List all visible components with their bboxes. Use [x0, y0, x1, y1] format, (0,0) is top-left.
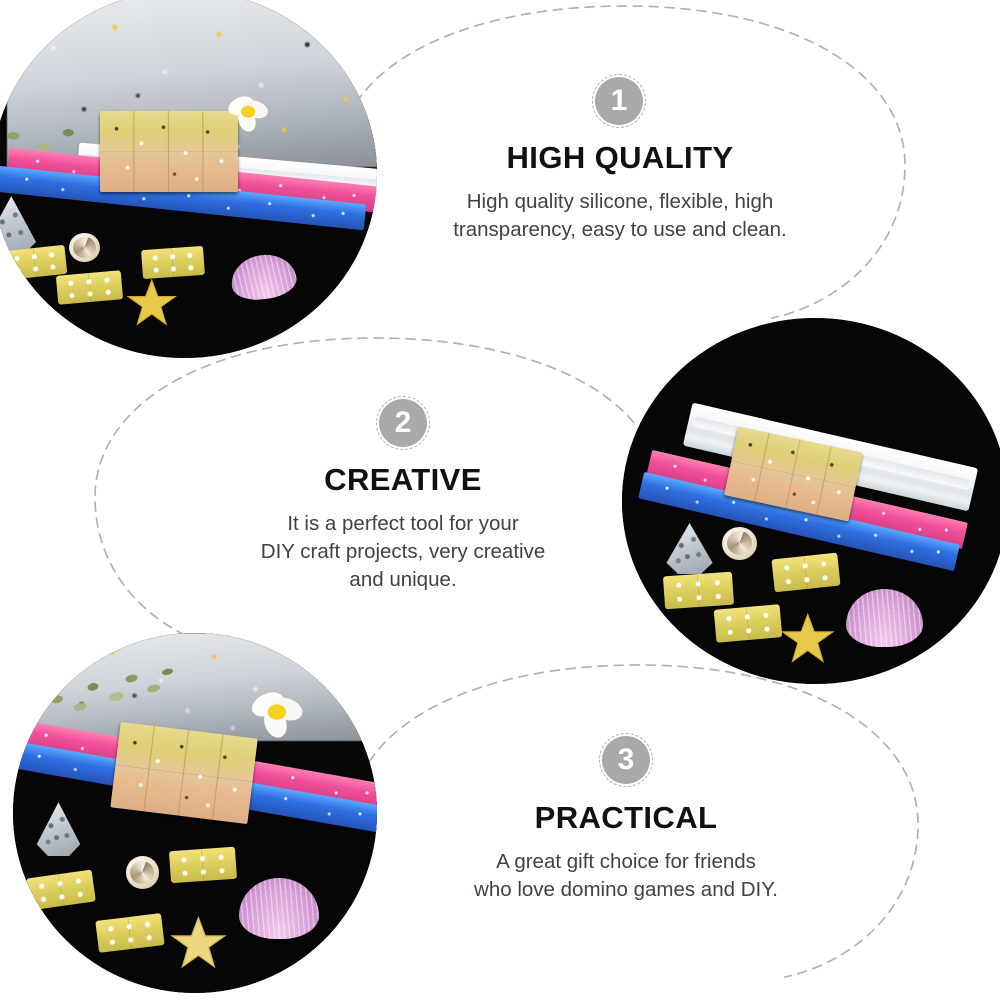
badge-disc: 1 [595, 77, 643, 125]
feature-body-2: It is a perfect tool for your DIY craft … [168, 510, 638, 594]
starfish [119, 277, 184, 329]
feature-title-1: HIGH QUALITY [385, 140, 855, 176]
badge-disc: 2 [379, 399, 427, 447]
spiral-shell [126, 856, 159, 888]
badge-number: 3 [618, 745, 635, 775]
feature-photo-3 [13, 633, 377, 993]
feature-title-2: CREATIVE [168, 462, 638, 498]
feature-block-1: HIGH QUALITY High quality silicone, flex… [385, 140, 855, 244]
starfish [162, 914, 235, 972]
feature-body-1: High quality silicone, flexible, high tr… [385, 188, 855, 244]
badge-number: 2 [395, 408, 412, 438]
feature-title-3: PRACTICAL [391, 800, 861, 836]
domino-tile [713, 604, 781, 643]
domino-tile [56, 271, 124, 306]
feature-body-3: A great gift choice for friends who love… [391, 848, 861, 904]
infographic-canvas: 1 HIGH QUALITY High quality silicone, fl… [0, 0, 1000, 1000]
feature-block-3: PRACTICAL A great gift choice for friend… [391, 800, 861, 904]
domino-tile [168, 847, 236, 884]
standing-domino-tiles [110, 722, 258, 825]
feature-photo-1 [0, 0, 377, 358]
standing-domino-tiles [100, 111, 239, 192]
feature-block-2: CREATIVE It is a perfect tool for your D… [168, 462, 638, 594]
badge-disc: 3 [602, 736, 650, 784]
spiral-shell [69, 233, 100, 262]
domino-tile [771, 553, 840, 593]
domino-tile [141, 245, 204, 279]
step-badge-1: 1 [592, 74, 646, 128]
spiral-shell [722, 527, 757, 560]
badge-number: 1 [611, 86, 628, 116]
domino-tile [663, 572, 735, 610]
feature-photo-2 [622, 318, 1000, 684]
plumeria-flower [246, 683, 308, 744]
step-badge-2: 2 [376, 396, 430, 450]
step-badge-3: 3 [599, 733, 653, 787]
starfish [773, 611, 842, 666]
plumeria-flower [223, 89, 273, 137]
